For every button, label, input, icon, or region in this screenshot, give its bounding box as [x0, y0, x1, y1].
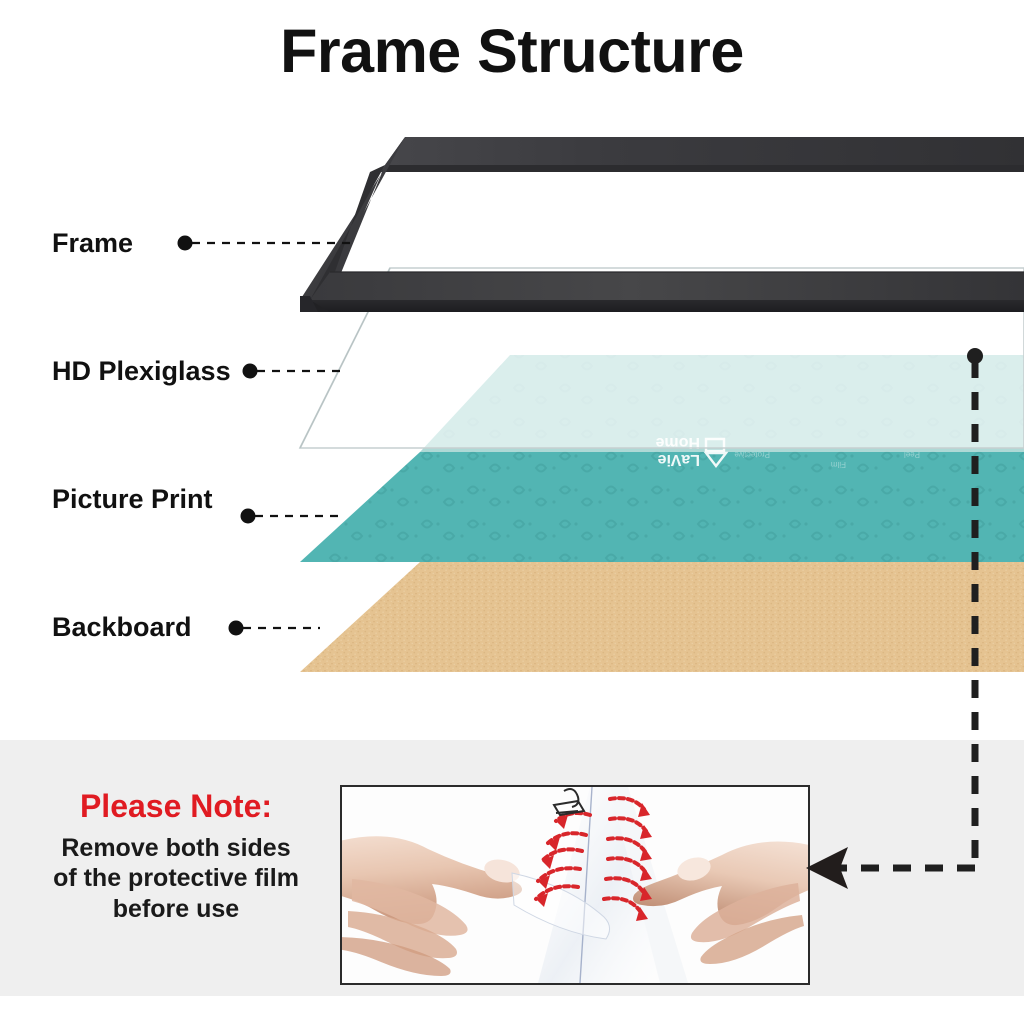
svg-text:Protective: Protective — [734, 450, 770, 459]
svg-text:LaVie: LaVie — [658, 451, 701, 468]
svg-text:Film: Film — [831, 460, 846, 469]
layer-frame — [300, 137, 1024, 312]
callout-dot-backboard — [229, 621, 244, 636]
note-body: Remove both sides of the protective film… — [30, 833, 322, 925]
callout-label-backboard: Backboard — [52, 612, 192, 643]
callout-dot-print — [241, 509, 256, 524]
note-line-3: before use — [30, 894, 322, 925]
callout-label-picture-print: Picture Print — [52, 484, 213, 515]
infographic-page: Frame Structure — [0, 0, 1024, 1024]
callout-label-plexiglass: HD Plexiglass — [52, 356, 231, 387]
callout-label-frame: Frame — [52, 228, 133, 259]
peel-film-illustration — [342, 787, 808, 983]
note-text-block: Please Note: Remove both sides of the pr… — [30, 788, 322, 924]
note-line-2: of the protective film — [30, 863, 322, 894]
callout-dot-frame — [178, 236, 193, 251]
note-line-1: Remove both sides — [30, 833, 322, 864]
peel-film-photo — [340, 785, 810, 985]
film-anchor-dot — [967, 348, 983, 364]
note-heading: Please Note: — [30, 788, 322, 825]
layer-backboard — [300, 562, 1024, 676]
svg-text:Peel: Peel — [904, 450, 920, 459]
callout-dot-plexiglass — [243, 364, 258, 379]
